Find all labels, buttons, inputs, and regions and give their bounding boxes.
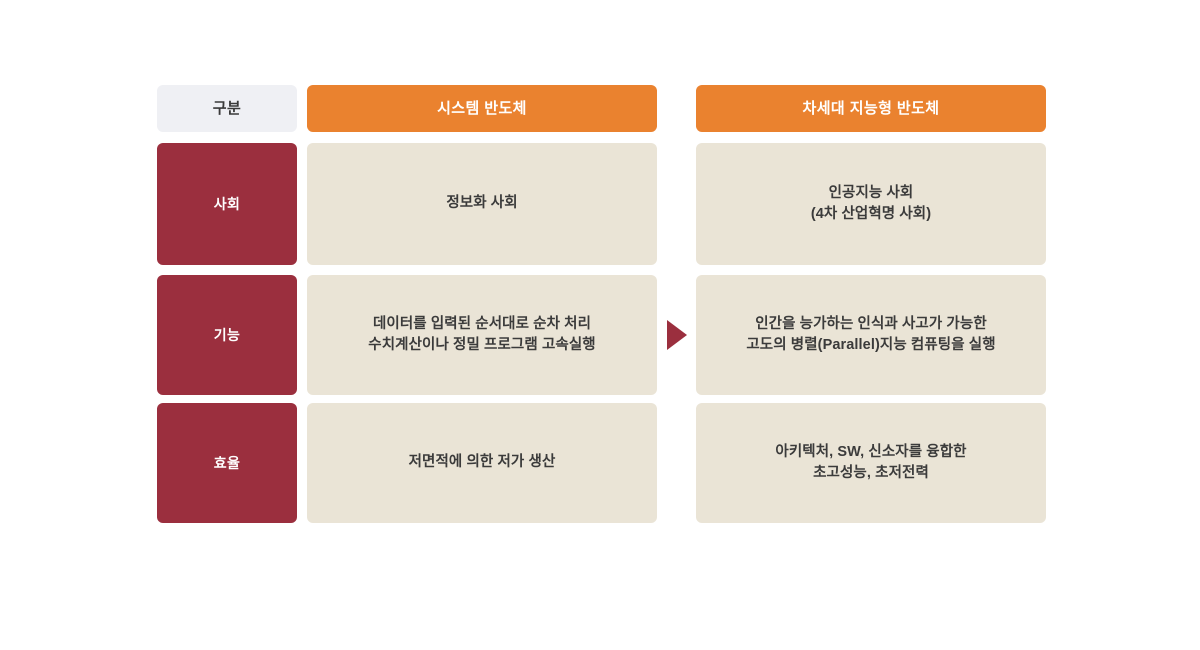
spacer [157, 395, 297, 403]
cell-function-nextgen: 인간을 능가하는 인식과 사고가 가능한 고도의 병렬(Parallel)지능 … [696, 275, 1046, 395]
spacer [657, 265, 696, 275]
cell-line: 고도의 병렬(Parallel)지능 컴퓨팅을 실행 [746, 335, 995, 356]
spacer [297, 275, 307, 395]
arrow-slot-row-society [657, 143, 696, 265]
comparison-table: 구분 시스템 반도체 차세대 지능형 반도체 사회 정보화 사회 인공지능 사회… [157, 85, 1047, 521]
arrow-slot-row-function [657, 275, 696, 395]
cell-line: 수치계산이나 정밀 프로그램 고속실행 [368, 335, 595, 356]
row-label-function: 기능 [157, 275, 297, 395]
row-label-efficiency: 효율 [157, 403, 297, 523]
spacer [297, 403, 307, 523]
spacer [157, 265, 297, 275]
cell-line: 데이터를 입력된 순서대로 순차 처리 [368, 314, 595, 335]
row-label-society: 사회 [157, 143, 297, 265]
header-column-system-semiconductor: 시스템 반도체 [307, 85, 657, 132]
cell-line: 초고성능, 초저전력 [775, 463, 966, 484]
spacer [696, 265, 1046, 275]
spacer [657, 85, 696, 132]
spacer [307, 132, 657, 143]
cell-efficiency-nextgen: 아키텍처, SW, 신소자를 융합한 초고성능, 초저전력 [696, 403, 1046, 523]
arrow-slot-row-efficiency [657, 403, 696, 523]
spacer [297, 143, 307, 265]
spacer [297, 85, 307, 132]
spacer [157, 132, 297, 143]
cell-line: 저면적에 의한 저가 생산 [409, 452, 556, 473]
spacer [297, 395, 307, 403]
spacer [657, 395, 696, 403]
cell-society-nextgen: 인공지능 사회 (4차 산업혁명 사회) [696, 143, 1046, 265]
cell-society-system: 정보화 사회 [307, 143, 657, 265]
cell-line: 인공지능 사회 [811, 183, 931, 204]
header-divider-label: 구분 [157, 85, 297, 132]
cell-function-system: 데이터를 입력된 순서대로 순차 처리 수치계산이나 정밀 프로그램 고속실행 [307, 275, 657, 395]
spacer [696, 132, 1046, 143]
spacer [696, 395, 1046, 403]
cell-line: (4차 산업혁명 사회) [811, 204, 931, 225]
spacer [307, 265, 657, 275]
cell-line: 인간을 능가하는 인식과 사고가 가능한 [746, 314, 995, 335]
spacer [297, 132, 307, 143]
cell-line: 정보화 사회 [446, 193, 517, 214]
spacer [307, 395, 657, 403]
cell-line: 아키텍처, SW, 신소자를 융합한 [775, 442, 966, 463]
spacer [297, 265, 307, 275]
cell-efficiency-system: 저면적에 의한 저가 생산 [307, 403, 657, 523]
triangle-right-icon [667, 320, 687, 350]
spacer [657, 132, 696, 143]
header-column-next-gen-semiconductor: 차세대 지능형 반도체 [696, 85, 1046, 132]
